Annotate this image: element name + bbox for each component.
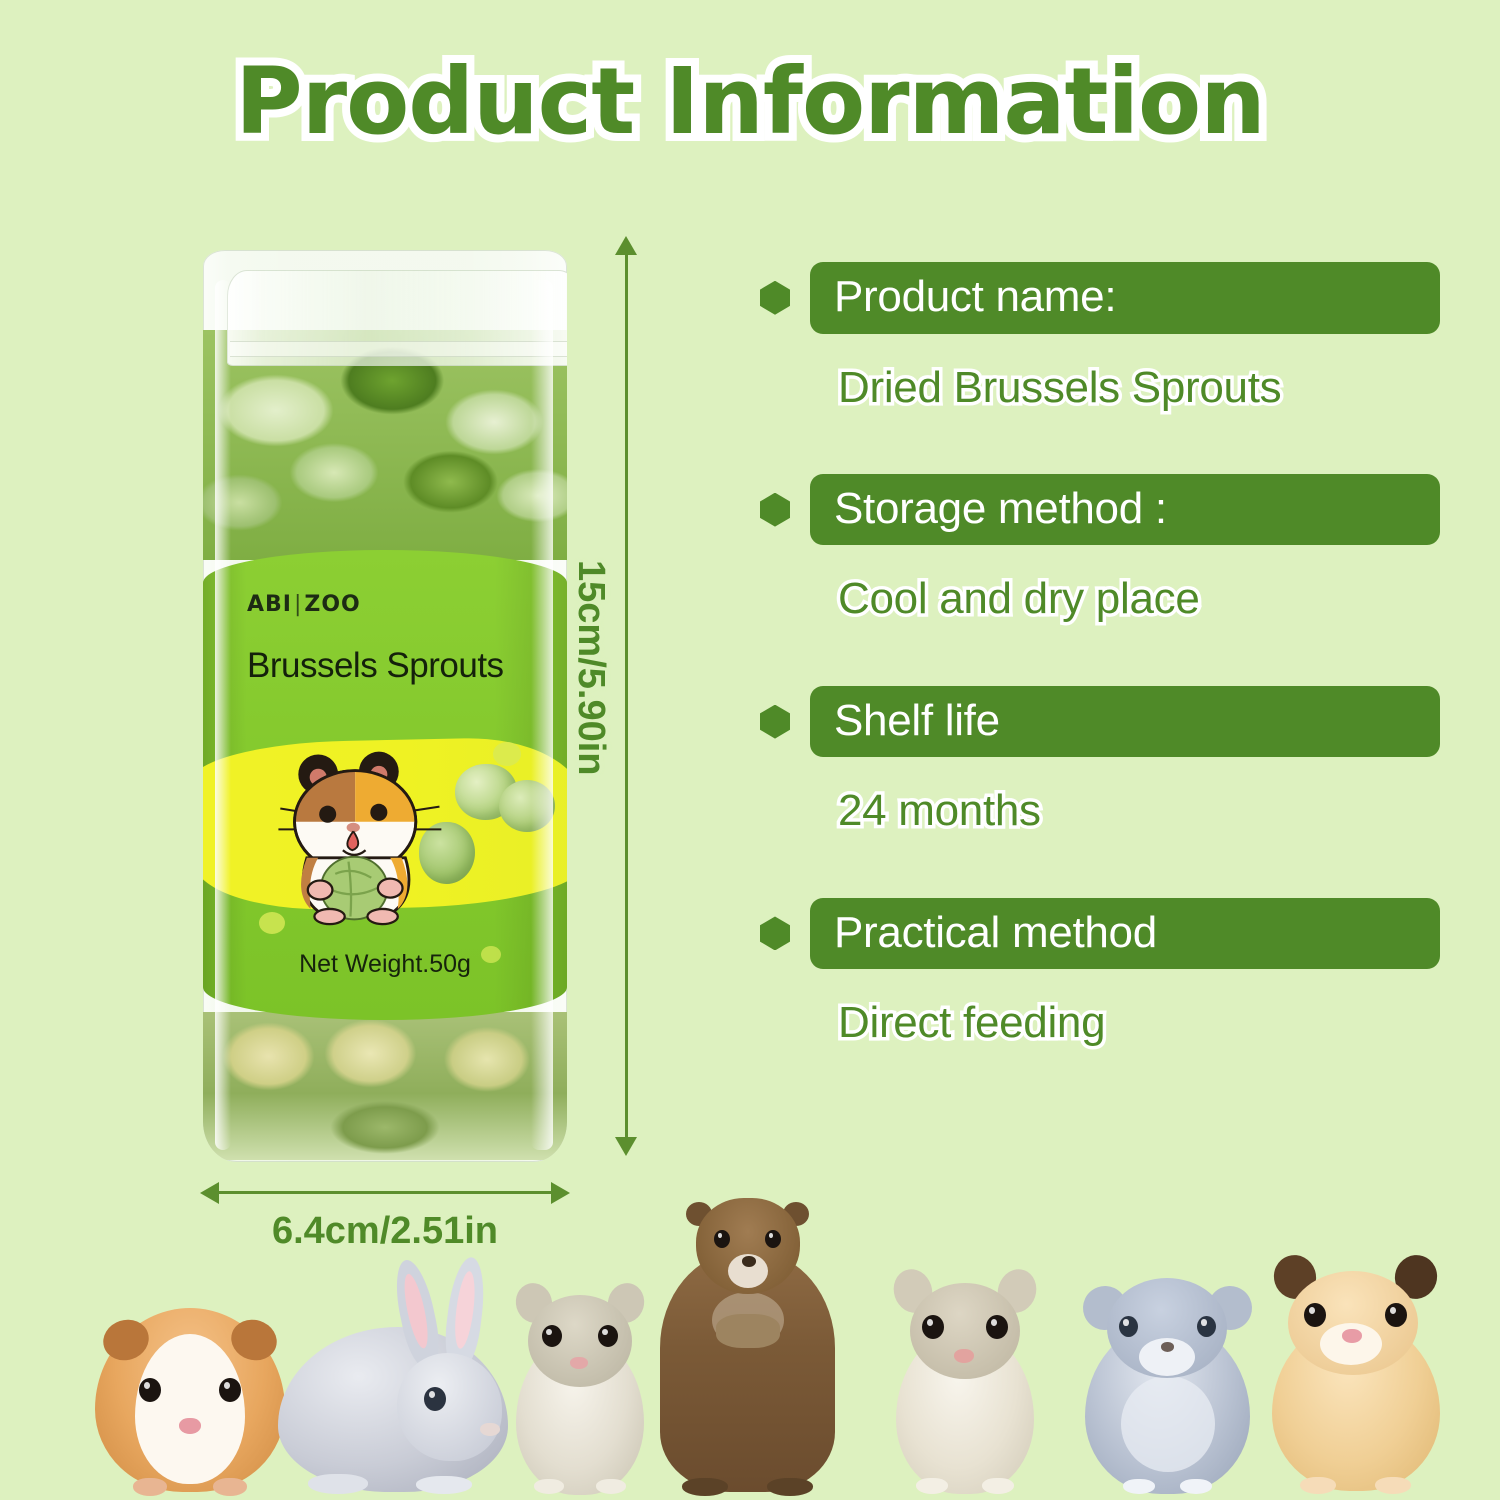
foot-shape <box>682 1478 728 1496</box>
eye-shape <box>598 1325 618 1347</box>
eye-shape <box>986 1315 1008 1339</box>
info-value-text: Cool and dry place <box>838 575 1440 623</box>
nose-shape <box>570 1357 588 1369</box>
product-label: ABI|ZOO Brussels Sprouts <box>203 550 567 1020</box>
title-bar: Product Information <box>0 52 1500 151</box>
height-dimension-label: 15cm/5.90in <box>569 560 612 775</box>
animal-prairie-dog <box>660 1192 835 1492</box>
info-row-storage-method: Storage method : Cool and dry place <box>760 474 1440 624</box>
animal-gerbil <box>510 1277 650 1492</box>
foot-shape <box>1300 1477 1336 1494</box>
hexagon-bullet-icon <box>760 705 790 739</box>
row-spacer <box>760 420 1440 474</box>
nose-shape <box>1342 1329 1362 1343</box>
info-heading-label: Storage method : <box>810 474 1440 546</box>
foot-shape <box>416 1476 472 1494</box>
width-dimension-arrow <box>200 1178 570 1208</box>
head-shape <box>397 1353 502 1461</box>
net-weight-text: Net Weight.50g <box>203 950 567 979</box>
info-value-text: Dried Brussels Sprouts <box>838 364 1440 412</box>
info-row-product-name: Product name: Dried Brussels Sprouts <box>760 262 1440 412</box>
foot-shape <box>916 1478 948 1494</box>
hexagon-bullet-icon <box>760 281 790 315</box>
dimension-line <box>212 1191 558 1194</box>
page-title: Product Information <box>235 52 1264 151</box>
jar-lid <box>227 270 567 366</box>
nose-shape <box>1161 1342 1174 1352</box>
info-heading-row: Shelf life <box>760 686 1440 758</box>
hexagon-bullet-icon <box>760 916 790 950</box>
jar-highlight <box>531 280 553 1150</box>
row-spacer <box>760 844 1440 898</box>
hexagon-bullet-icon <box>760 493 790 527</box>
brand-text-right: ZOO <box>304 592 360 617</box>
eye-shape <box>219 1378 241 1402</box>
eye-shape <box>922 1315 944 1339</box>
info-heading-label: Practical method <box>810 898 1440 970</box>
jar-highlight <box>215 280 231 1150</box>
info-value-text: 24 months <box>838 787 1440 835</box>
product-jar: ABI|ZOO Brussels Sprouts <box>203 250 567 1162</box>
dried-sprouts-bottom-fill <box>203 1012 567 1160</box>
animal-gerbil <box>890 1267 1040 1492</box>
arrow-right-icon <box>551 1182 570 1204</box>
label-dot <box>493 742 521 766</box>
arrow-down-icon <box>615 1137 637 1156</box>
eye-shape <box>765 1230 781 1248</box>
info-heading-row: Practical method <box>760 898 1440 970</box>
eye-shape <box>714 1230 730 1248</box>
product-info-list: Product name: Dried Brussels Sprouts Sto… <box>760 262 1440 1056</box>
label-product-name: Brussels Sprouts <box>247 646 547 686</box>
brand-text-left: ABI <box>247 592 292 617</box>
nose-shape <box>480 1423 500 1436</box>
foot-shape <box>213 1478 247 1496</box>
animal-syrian-hamster <box>1268 1257 1443 1492</box>
foot-shape <box>596 1479 626 1494</box>
eye-shape <box>1304 1303 1326 1327</box>
info-row-practical-method: Practical method Direct feeding <box>760 898 1440 1048</box>
hamster-mascot-icon <box>263 746 453 926</box>
animal-rabbit <box>268 1257 508 1492</box>
foot-shape <box>1180 1479 1212 1494</box>
info-heading-label: Shelf life <box>810 686 1440 758</box>
eye-shape <box>1385 1303 1407 1327</box>
animal-chinchilla <box>1085 1272 1250 1492</box>
belly-shape <box>1121 1376 1215 1472</box>
foot-shape <box>308 1474 368 1494</box>
eye-shape <box>542 1325 562 1347</box>
info-row-shelf-life: Shelf life 24 months <box>760 686 1440 836</box>
foot-shape <box>1123 1479 1155 1494</box>
foot-shape <box>1375 1477 1411 1494</box>
eye-shape <box>139 1378 161 1402</box>
foot-shape <box>534 1479 564 1494</box>
info-heading-row: Product name: <box>760 262 1440 334</box>
eye-shape <box>1197 1316 1216 1337</box>
paws-shape <box>716 1314 780 1348</box>
foot-shape <box>982 1478 1014 1494</box>
dimension-line <box>625 246 628 1146</box>
height-dimension-arrow <box>608 236 654 1156</box>
animal-guinea-pig <box>95 1292 285 1492</box>
nose-shape <box>742 1256 756 1267</box>
brand-logo: ABI|ZOO <box>247 592 361 617</box>
product-photo: ABI|ZOO Brussels Sprouts <box>185 232 585 1162</box>
foot-shape <box>133 1478 167 1496</box>
row-spacer <box>760 632 1440 686</box>
eye-shape <box>1119 1316 1138 1337</box>
foot-shape <box>767 1478 813 1496</box>
info-heading-label: Product name: <box>810 262 1440 334</box>
eye-shape <box>424 1387 446 1411</box>
compatible-pets-row <box>0 1210 1500 1500</box>
info-heading-row: Storage method : <box>760 474 1440 546</box>
nose-shape <box>179 1418 201 1434</box>
info-value-text: Direct feeding <box>838 999 1440 1047</box>
brand-separator: | <box>292 592 304 617</box>
nose-shape <box>954 1349 974 1363</box>
